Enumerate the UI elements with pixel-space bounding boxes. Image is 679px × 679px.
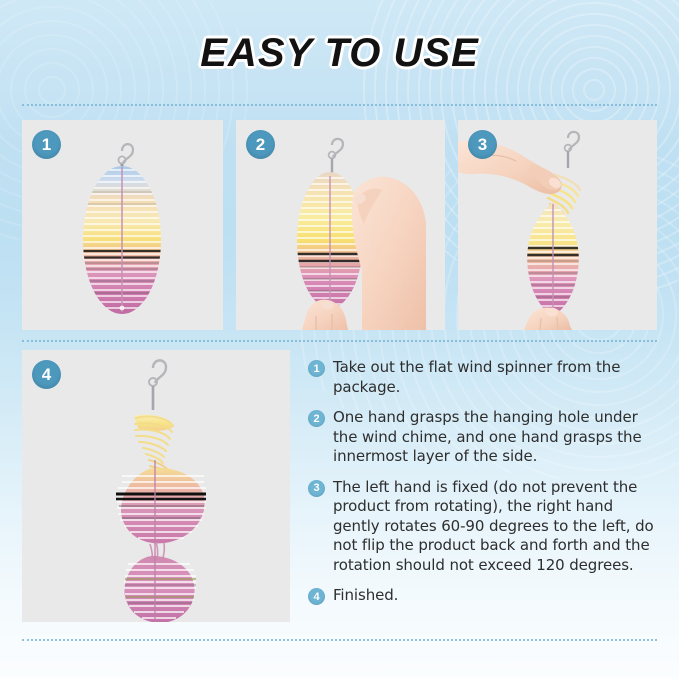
spinner-bottom-lobe [124,556,196,622]
page-title: EASY TO USE [0,31,679,76]
step-badge-4: 4 [308,588,325,605]
step-text-2: One hand grasps the hanging hole under t… [333,408,660,467]
infographic-page: EASY TO USE 1 [0,0,679,679]
step-badge-3: 3 [308,480,325,497]
divider-bottom [22,639,657,641]
step-text-4: Finished. [333,586,398,606]
list-item: 4 Finished. [308,586,660,606]
list-item: 1 Take out the flat wind spinner from th… [308,358,660,397]
divider-middle [22,340,657,342]
panel-badge-4: 4 [32,360,61,389]
step-text-1: Take out the flat wind spinner from the … [333,358,660,397]
divider-top [22,104,657,106]
hook-icon [118,144,133,166]
hook-icon [329,139,343,159]
photo-panel-2: 2 [236,120,445,330]
hand-bottom [302,300,348,330]
step-badge-2: 2 [308,410,325,427]
spinner-mid-lobe [116,468,206,544]
step-text-3: The left hand is fixed (do not prevent t… [333,478,660,576]
list-item: 3 The left hand is fixed (do not prevent… [308,478,660,576]
photo-panel-4: 4 [22,350,290,622]
panel-badge-3: 3 [468,130,497,159]
list-item: 2 One hand grasps the hanging hole under… [308,408,660,467]
photo-panel-3: 3 [458,120,657,330]
hand-right [352,177,426,330]
panel-badge-2: 2 [246,130,275,159]
spinner-illustration-twisted [22,350,290,622]
panel-badge-1: 1 [32,130,61,159]
hook-icon [565,132,579,152]
instruction-list: 1 Take out the flat wind spinner from th… [308,358,660,617]
step-badge-1: 1 [308,360,325,377]
photo-panel-1: 1 [22,120,223,330]
hook-icon [149,360,166,386]
hand-bottom [524,308,572,331]
